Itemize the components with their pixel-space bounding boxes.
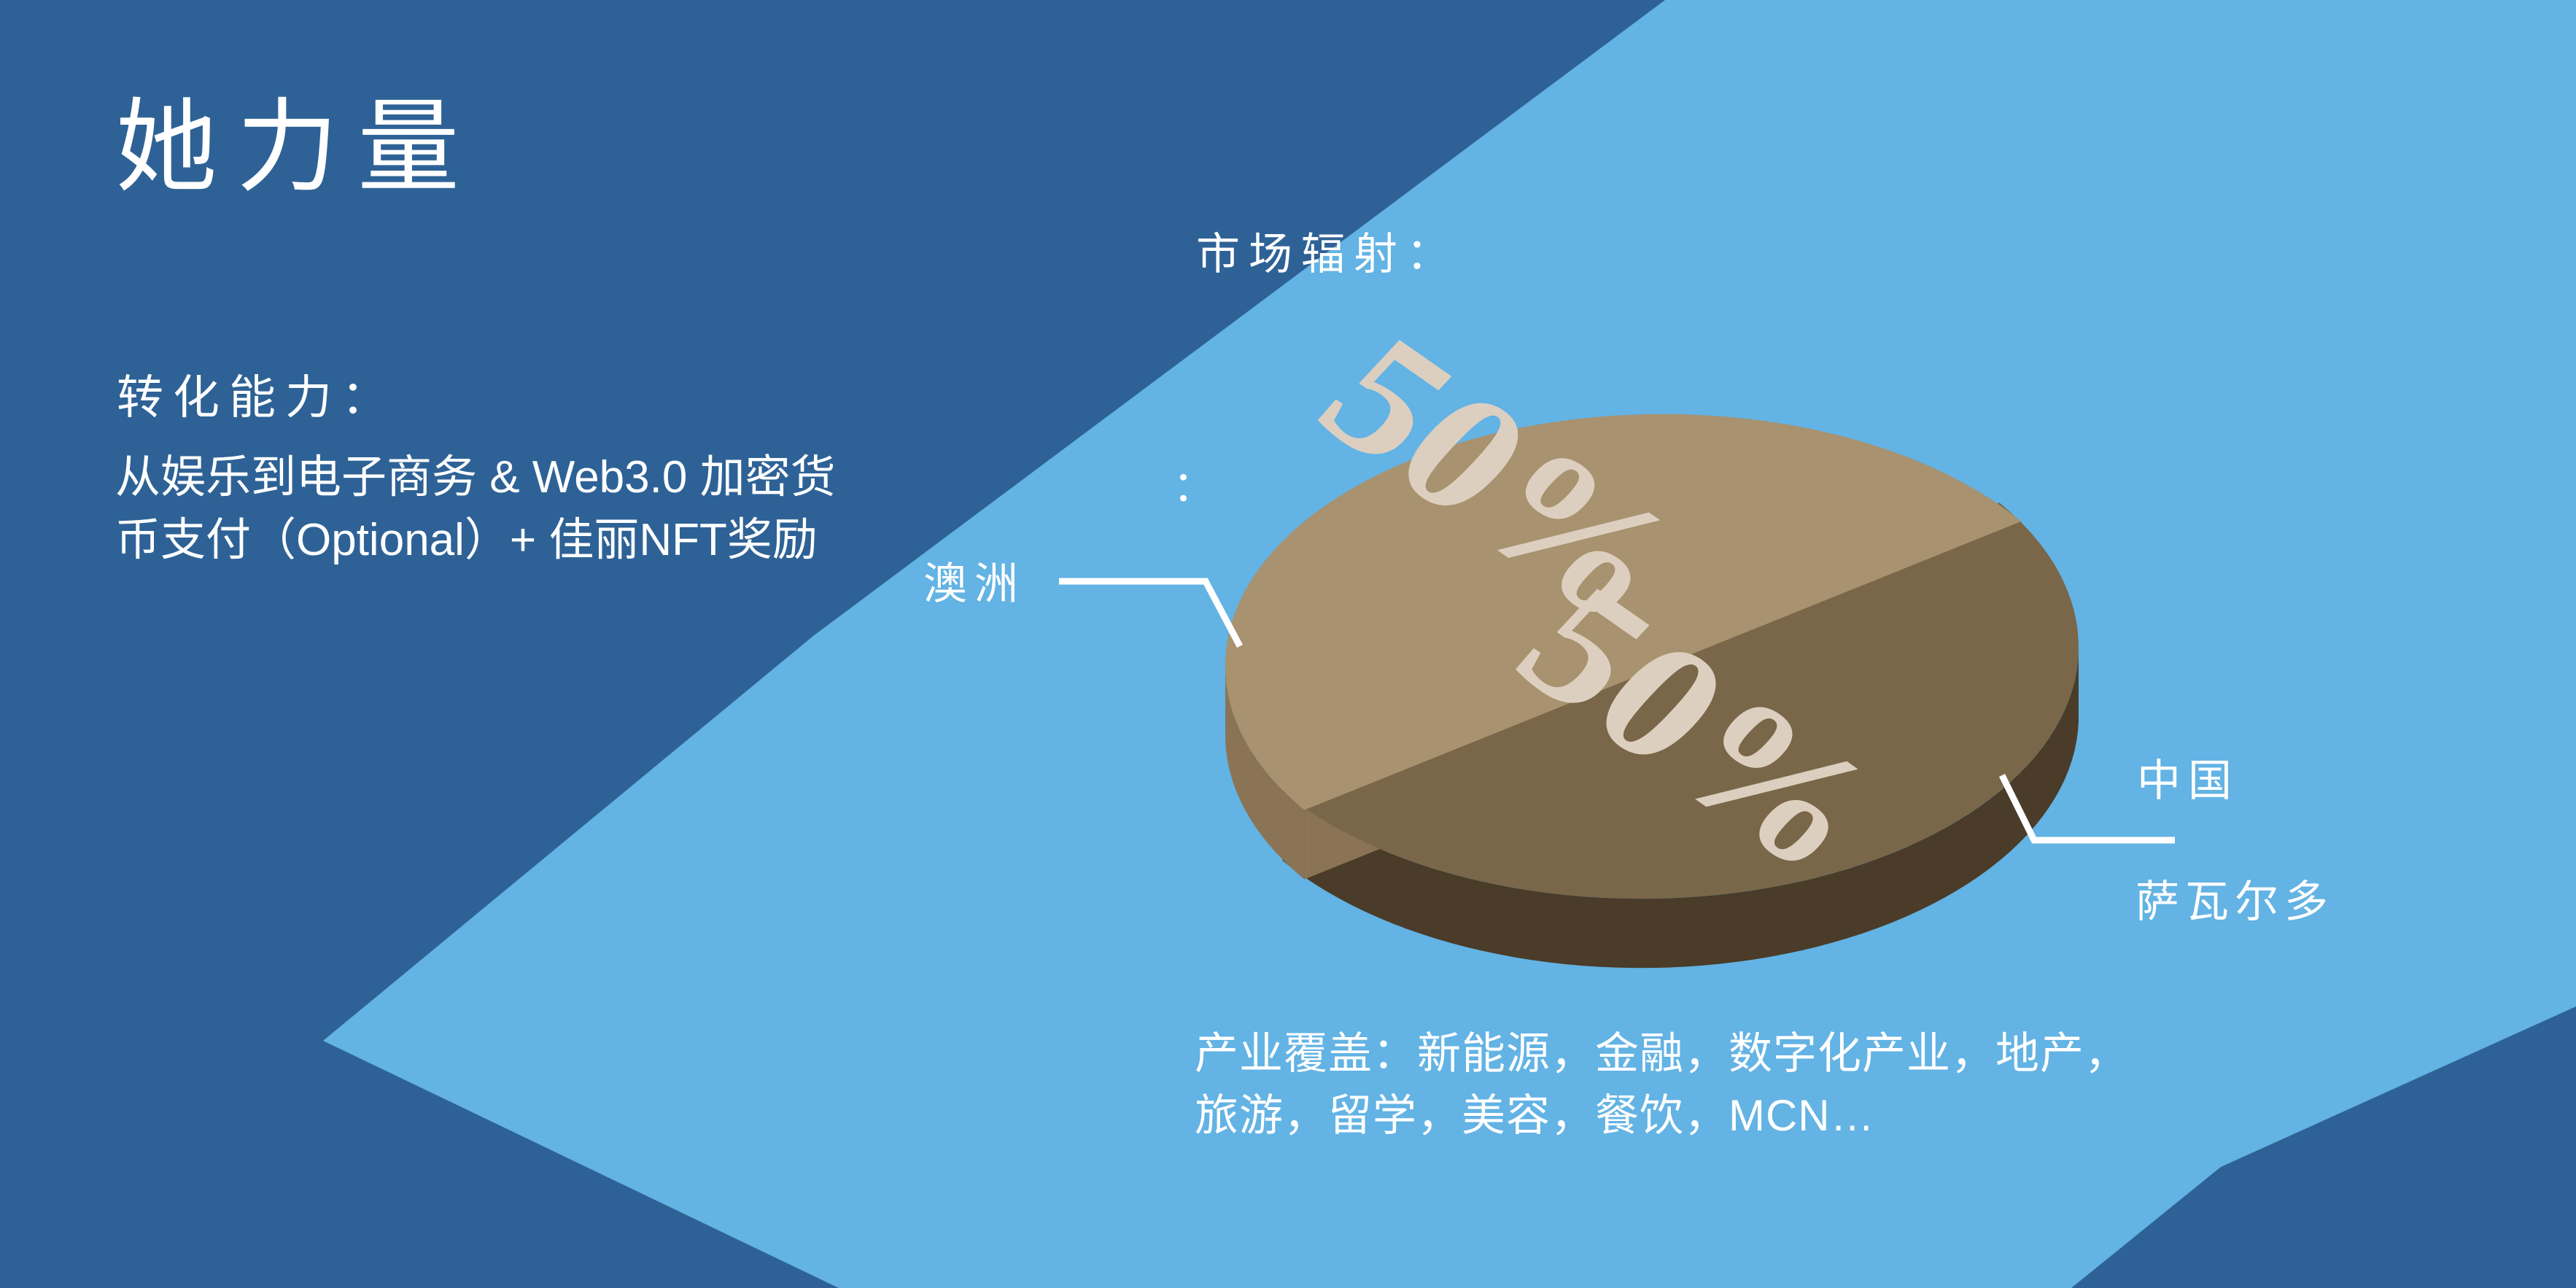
stray-colon: ： (1173, 452, 1215, 513)
market-section-label: 市场辐射： (1196, 219, 1459, 282)
industry-line-1: 产业覆盖：新能源，金融，数字化产业，地产， (1195, 1029, 2129, 1078)
page-title: 她力量 (115, 96, 478, 198)
conversion-body-line-1: 从娱乐到电子商务 & Web3.0 加密货 (115, 452, 836, 503)
industry-coverage: 产业覆盖：新能源，金融，数字化产业，地产，旅游，留学，美容，餐饮，MCN… (1195, 1023, 2129, 1147)
conversion-body: 从娱乐到电子商务 & Web3.0 加密货币支付（Optional）+ 佳丽NF… (115, 446, 836, 571)
callout-label-salvador: 萨瓦尔多 (2135, 866, 2334, 930)
slide-canvas: 50%50% 她力量 转化能力： 从娱乐到电子商务 & Web3.0 加密货币支… (0, 0, 2576, 1288)
callout-label-china: 中国 (2137, 745, 2239, 809)
conversion-section-label: 转化能力： (117, 360, 397, 427)
conversion-body-line-2: 币支付（Optional）+ 佳丽NFT奖励 (115, 515, 818, 565)
callout-label-australia: 澳洲 (923, 548, 1025, 612)
industry-line-2: 旅游，留学，美容，餐饮，MCN… (1195, 1091, 1875, 1140)
